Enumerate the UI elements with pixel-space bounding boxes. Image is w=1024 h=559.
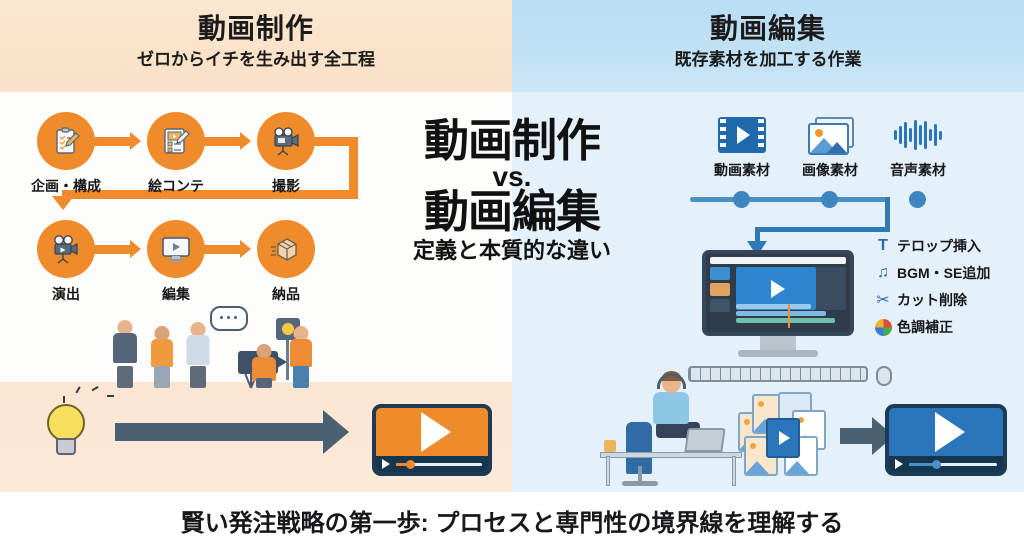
connector-dot-1 [733, 191, 750, 208]
music-note-icon: ♫ [872, 264, 894, 282]
play-icon [376, 408, 488, 456]
process-step-label: 編集 [140, 284, 212, 304]
right-header-title: 動画編集 [512, 14, 1024, 45]
blue-video-player [885, 404, 1007, 476]
task-telop: T テロップ挿入 [872, 236, 1022, 256]
editing-outcome-arrow [840, 428, 874, 444]
right-panel-header: 動画編集 既存素材を加工する作業 [512, 14, 1024, 69]
material-label: 音声素材 [873, 160, 963, 180]
movie-camera-icon [257, 112, 315, 170]
left-header-title: 動画制作 [0, 14, 512, 45]
material-video: 動画素材 [697, 112, 787, 180]
chair-stem [638, 466, 642, 482]
text-t-icon: T [872, 237, 894, 255]
process-step-shooting: 撮影 [250, 112, 322, 196]
editor-body [653, 392, 689, 424]
monitor-play-icon [147, 220, 205, 278]
media-files-cluster [738, 392, 830, 480]
crew-person-1 [110, 320, 140, 388]
software-timeline [736, 304, 846, 328]
editing-software-monitor [702, 250, 854, 360]
player-progress-bar [376, 456, 488, 472]
play-icon [889, 408, 1003, 456]
chair-base [622, 481, 658, 486]
flow-wrap-arrowhead [52, 196, 74, 210]
left-header-subtitle: ゼロからイチを生み出す全工程 [0, 51, 512, 70]
production-outcome-arrow [115, 423, 325, 441]
media-card-video [766, 418, 800, 458]
lightbulb-icon [38, 398, 90, 460]
footer-message: 賢い発注戦略の第一歩: プロセスと専門性の境界線を理解する [0, 503, 1024, 538]
process-step-label: 絵コンテ [140, 176, 212, 196]
connector-return [755, 227, 890, 232]
material-label: 動画素材 [697, 160, 787, 180]
material-audio: 音声素材 [873, 112, 963, 180]
film-play-icon [697, 112, 787, 158]
crew-person-2 [148, 326, 176, 388]
headphones-icon [657, 373, 686, 389]
process-step-label: 企画・構成 [30, 176, 102, 196]
process-step-label: 納品 [250, 284, 322, 304]
process-step-label: 演出 [30, 284, 102, 304]
desk-leg [732, 456, 736, 486]
task-label: カット削除 [897, 290, 967, 310]
editor-at-desk-illustration [600, 368, 750, 486]
coffee-cup-icon [604, 440, 616, 452]
title-editing: 動画編集 [347, 189, 677, 235]
task-label: テロップ挿入 [897, 236, 981, 256]
task-label: BGM・SE追加 [897, 263, 990, 283]
desk-surface [600, 452, 742, 458]
player-progress-bar [889, 456, 1003, 472]
task-cut: ✂ カット削除 [872, 290, 1022, 310]
title-production: 動画制作 [347, 118, 677, 164]
monitor-base [738, 350, 818, 357]
production-process-flow: 企画・構成 絵コンテ [24, 112, 344, 312]
package-box-icon [257, 220, 315, 278]
connector-dot-3 [909, 191, 926, 208]
audio-waveform-icon [873, 112, 963, 158]
speech-bubble-icon [210, 306, 248, 331]
process-step-editing: 編集 [140, 220, 212, 304]
mouse-icon [876, 366, 892, 386]
material-image: 画像素材 [785, 112, 875, 180]
connector-dot-2 [821, 191, 838, 208]
process-step-storyboard: 絵コンテ [140, 112, 212, 196]
timeline-playhead [788, 304, 790, 328]
software-media-bin [710, 267, 732, 304]
task-bgm: ♫ BGM・SE追加 [872, 263, 1022, 283]
image-stack-icon [785, 112, 875, 158]
process-step-delivery: 納品 [250, 220, 322, 304]
color-wheel-icon [872, 319, 894, 336]
crew-person-3 [184, 322, 212, 388]
editing-task-list: T テロップ挿入 ♫ BGM・SE追加 ✂ カット削除 色調補正 [872, 236, 1022, 344]
monitor-stand [760, 336, 796, 350]
crew-person-5 [288, 326, 314, 388]
camera-direction-icon [37, 220, 95, 278]
task-label: 色調補正 [897, 317, 953, 337]
monitor-screen [702, 250, 854, 336]
right-header-subtitle: 既存素材を加工する作業 [512, 51, 1024, 70]
production-crew-illustration [110, 306, 310, 388]
crew-camera-operator [250, 344, 278, 388]
infographic-canvas: 動画制作 ゼロからイチを生み出す全工程 動画編集 既存素材を加工する作業 [0, 0, 1024, 559]
desk-leg [606, 456, 610, 486]
process-step-planning: 企画・構成 [30, 112, 102, 196]
task-color: 色調補正 [872, 317, 1022, 337]
storyboard-icon [147, 112, 205, 170]
clipboard-pencil-icon [37, 112, 95, 170]
process-step-direction: 演出 [30, 220, 102, 304]
material-label: 画像素材 [785, 160, 875, 180]
software-toolbar [710, 257, 846, 264]
material-connector-line [690, 197, 890, 202]
orange-video-player [372, 404, 492, 476]
process-step-label: 撮影 [250, 176, 322, 196]
page-title: 動画制作 vs. 動画編集 定義と本質的な違い [347, 118, 677, 263]
scissors-icon: ✂ [872, 290, 894, 310]
title-subtitle: 定義と本質的な違い [347, 239, 677, 263]
left-panel-header: 動画制作 ゼロからイチを生み出す全工程 [0, 14, 512, 69]
laptop-icon [684, 428, 725, 452]
